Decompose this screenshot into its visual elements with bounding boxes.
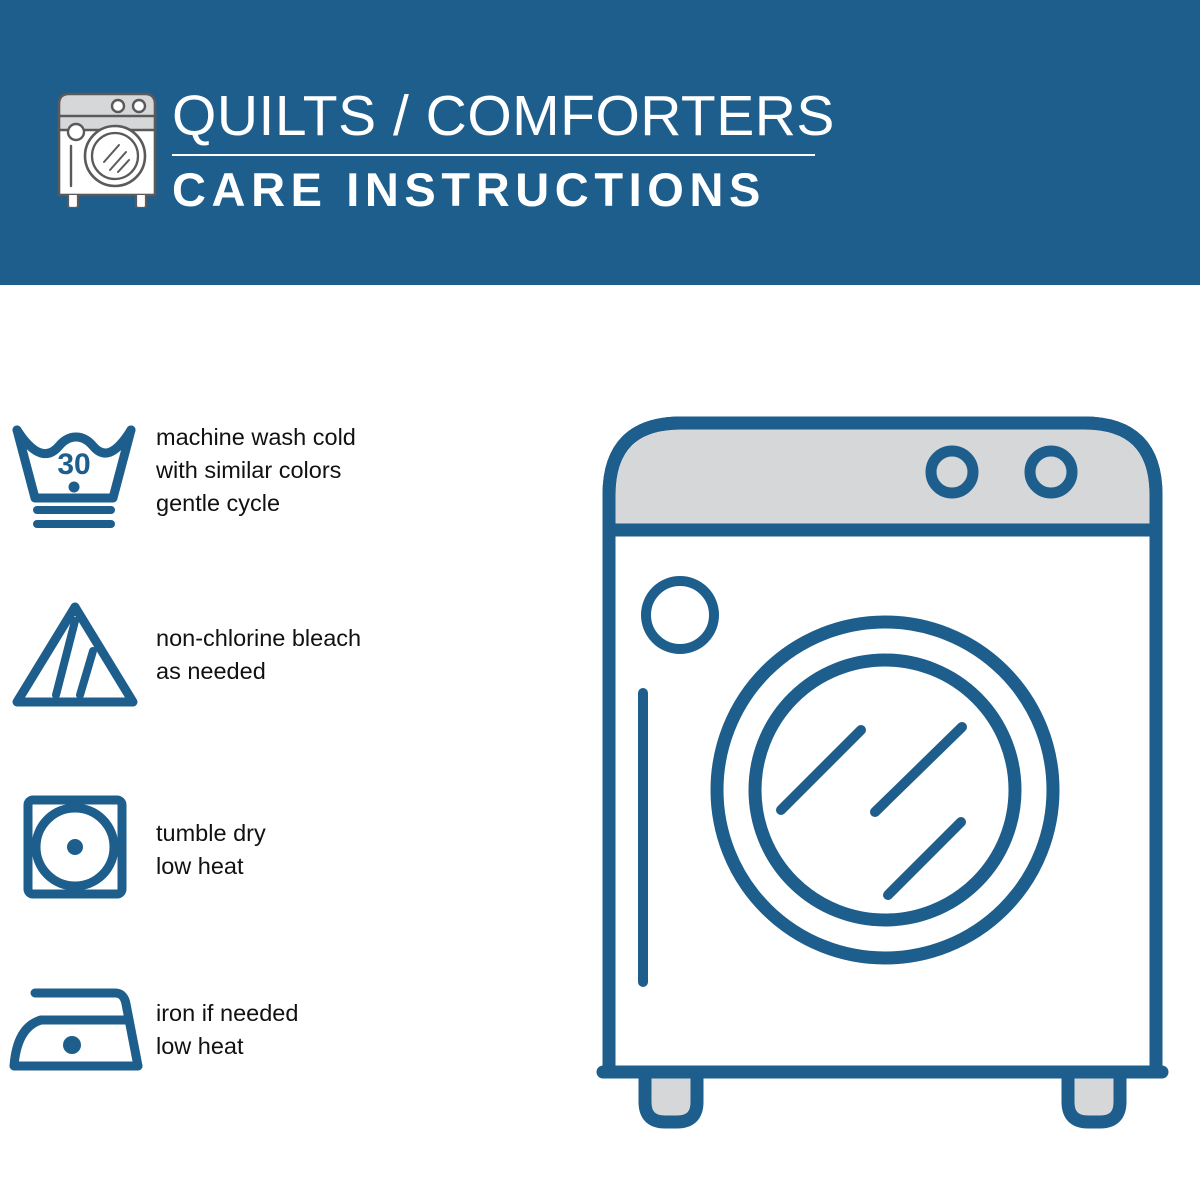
care-line: as needed — [156, 655, 361, 688]
care-row-iron: iron if needed low heat — [0, 970, 520, 1090]
care-line: tumble dry — [156, 817, 266, 850]
non-chlorine-bleach-triangle-icon — [0, 595, 150, 715]
washing-machine-icon — [52, 82, 162, 208]
care-line: with similar colors — [156, 454, 356, 487]
tumble-dry-low-icon — [0, 790, 150, 910]
care-line: low heat — [156, 1030, 298, 1063]
wash-temperature-value: 30 — [57, 448, 90, 481]
care-instructions-page: QUILTS / COMFORTERS CARE INSTRUCTIONS 30 — [0, 0, 1200, 1200]
care-line: iron if needed — [156, 997, 298, 1030]
care-line: gentle cycle — [156, 487, 356, 520]
leg-left — [645, 1072, 697, 1122]
header-title-group: QUILTS / COMFORTERS CARE INSTRUCTIONS — [172, 86, 832, 215]
wash-tub-30-gentle-icon: 30 — [0, 410, 150, 530]
title-divider — [172, 154, 815, 156]
care-row-machine-wash: 30 machine wash cold with similar colors… — [0, 410, 520, 530]
leg-right — [1068, 1072, 1120, 1122]
page-header: QUILTS / COMFORTERS CARE INSTRUCTIONS — [0, 0, 1200, 285]
care-row-tumble-dry: tumble dry low heat — [0, 790, 520, 910]
care-row-bleach: non-chlorine bleach as needed — [0, 595, 520, 715]
care-text-machine-wash: machine wash cold with similar colors ge… — [150, 421, 356, 520]
iron-low-heat-icon — [0, 970, 150, 1090]
care-line: non-chlorine bleach — [156, 622, 361, 655]
care-text-iron: iron if needed low heat — [150, 997, 298, 1063]
care-text-tumble-dry: tumble dry low heat — [150, 817, 266, 883]
care-line: machine wash cold — [156, 421, 356, 454]
page-title: QUILTS / COMFORTERS — [172, 86, 832, 146]
care-instruction-list: 30 machine wash cold with similar colors… — [0, 285, 560, 1200]
front-load-washing-machine-illustration — [595, 400, 1170, 1130]
page-subtitle: CARE INSTRUCTIONS — [172, 165, 832, 215]
care-line: low heat — [156, 850, 266, 883]
care-text-bleach: non-chlorine bleach as needed — [150, 622, 361, 688]
